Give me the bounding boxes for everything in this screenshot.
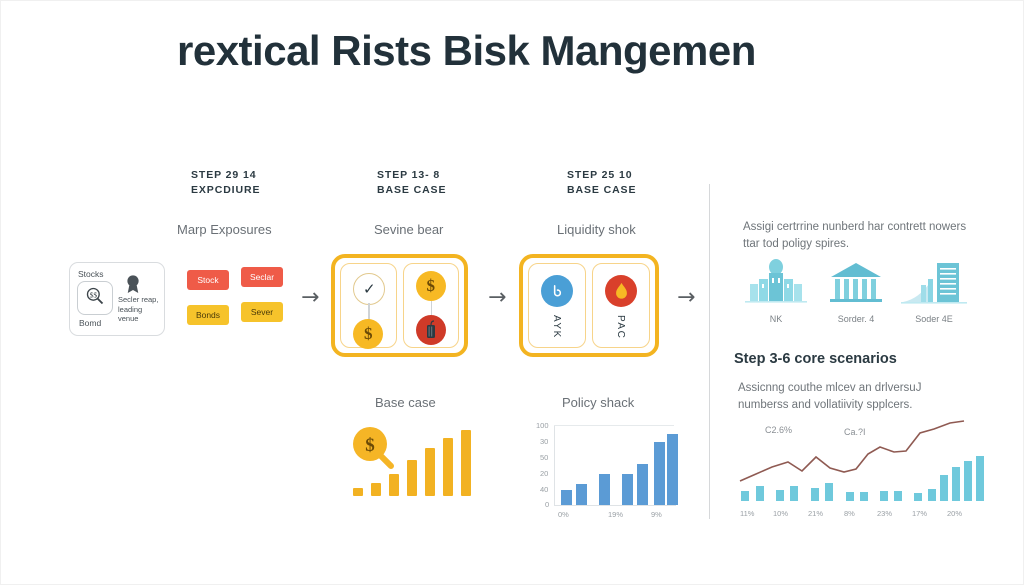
- scenario-pane-pac[interactable]: PAC: [592, 263, 650, 348]
- base-case-bar-7: [461, 430, 471, 496]
- base-case-magnifier-icon: $: [351, 426, 395, 475]
- base-case-bar-4: [407, 460, 417, 496]
- spiral-circle-icon: [541, 275, 573, 307]
- diagram-canvas: rextical Rists Bisk Mangemen STEP 29 14 …: [0, 0, 1024, 585]
- exposure-inner-box: $$: [77, 281, 113, 315]
- x-tick-0: 0%: [558, 510, 569, 519]
- exposure-label-stocks: Stocks: [78, 269, 104, 279]
- bar-5: [637, 464, 648, 505]
- step-header-3-line1: STEP 25 10: [567, 169, 632, 181]
- policy-shock-caption: Policy shack: [562, 395, 634, 410]
- building-item-2: Sorder. 4: [823, 259, 889, 324]
- chip-bonds[interactable]: Bonds: [187, 305, 229, 325]
- combo-bar-15: [964, 461, 972, 501]
- scenario-pane-shock[interactable]: $: [403, 263, 460, 348]
- base-case-caption: Base case: [375, 395, 436, 410]
- bar-6: [654, 442, 665, 505]
- combo-x-tick-4: 23%: [877, 509, 892, 518]
- combo-bar-2: [756, 486, 764, 501]
- right-heading: Step 3-6 core scenarios: [734, 351, 897, 367]
- stage-caption-3: Liquidity shok: [557, 222, 636, 237]
- scenario-pane-ayk[interactable]: AYK: [528, 263, 586, 348]
- check-circle-icon: ✓: [353, 273, 385, 305]
- combo-x-tick-1: 10%: [773, 509, 788, 518]
- exposure-label-sector: Secler reap, leading venue: [118, 295, 164, 324]
- scenario-label-ayk: AYK: [551, 315, 562, 339]
- combo-x-tick-6: 20%: [947, 509, 962, 518]
- step-header-3: STEP 25 10 BASE CASE: [567, 168, 636, 198]
- magnifier-dollar-icon: $$: [85, 286, 105, 311]
- building-label-3: Soder 4E: [899, 314, 969, 324]
- flow-arrow-1: →: [301, 287, 319, 309]
- chip-sever[interactable]: Sever: [241, 302, 283, 322]
- skyscraper-icon: [901, 292, 967, 309]
- chart-top-gridline: [554, 425, 674, 426]
- bar-4: [622, 474, 633, 505]
- bar-7: [667, 434, 678, 505]
- stage-caption-1: Marp Exposures: [177, 222, 272, 237]
- chip-stock-label: Stock: [197, 275, 218, 285]
- svg-text:$: $: [365, 435, 375, 456]
- scenario-pane-check[interactable]: ✓ $: [340, 263, 397, 348]
- combo-bar-12: [928, 489, 936, 501]
- y-tick-4: 40: [540, 485, 548, 494]
- step-header-1-line1: STEP 29 14: [191, 169, 256, 181]
- bar-2: [576, 484, 587, 505]
- exposure-label-bond: Bomd: [79, 318, 101, 328]
- chip-sever-label: Sever: [251, 307, 273, 317]
- dollar-coin-icon: $: [416, 271, 446, 301]
- flow-arrow-3: →: [677, 287, 695, 309]
- chip-stock[interactable]: Stock: [187, 270, 229, 290]
- svg-text:$$: $$: [90, 290, 98, 299]
- flow-arrow-2: →: [488, 287, 506, 309]
- combo-bar-5: [811, 488, 819, 501]
- stage-caption-2: Sevine bear: [374, 222, 443, 237]
- exposure-card[interactable]: Stocks $$ Bomd Secler reap, leading venu…: [69, 262, 165, 336]
- bar-3: [599, 474, 610, 505]
- bank-columns-icon: [825, 292, 887, 309]
- step-header-2: STEP 13- 8 BASE CASE: [377, 168, 446, 198]
- combo-x-tick-5: 17%: [912, 509, 927, 518]
- combo-bar-1: [741, 491, 749, 501]
- scenario-card-base[interactable]: ✓ $ $: [331, 254, 468, 357]
- chart-x-axis: [554, 505, 676, 506]
- dollar-glyph: $: [427, 276, 436, 296]
- combo-bar-8: [860, 492, 868, 501]
- y-tick-5: 0: [545, 500, 549, 509]
- base-case-bar-1: [353, 488, 363, 496]
- combo-x-tick-0: 11%: [740, 509, 754, 518]
- scenario-label-pac: PAC: [615, 315, 626, 339]
- chip-sector-label: Seclar: [250, 272, 274, 282]
- chip-bonds-label: Bonds: [196, 310, 220, 320]
- flame-circle-icon: [605, 275, 637, 307]
- page-title: rextical Rists Bisk Mangemen: [177, 27, 756, 75]
- step-header-1-line2: EXPCDIURE: [191, 183, 260, 198]
- combo-bar-14: [952, 467, 960, 501]
- combo-bar-6: [825, 483, 833, 501]
- right-paragraph-top: Assigi certrrine nunberd har contrett no…: [743, 219, 975, 253]
- step-header-2-line2: BASE CASE: [377, 183, 446, 198]
- scenario-card-liquidity[interactable]: AYK PAC: [519, 254, 659, 357]
- combo-bar-4: [790, 486, 798, 501]
- base-case-bar-5: [425, 448, 435, 496]
- combo-bar-13: [940, 475, 948, 501]
- combo-x-tick-3: 8%: [844, 509, 855, 518]
- combo-x-tick-2: 21%: [808, 509, 823, 518]
- dynamite-icon: [416, 315, 446, 345]
- chip-sector[interactable]: Seclar: [241, 267, 283, 287]
- base-case-bar-3: [389, 474, 399, 496]
- dollar-coin-icon: $: [353, 319, 383, 349]
- combo-bar-10: [894, 491, 902, 501]
- base-case-bar-6: [443, 438, 453, 496]
- building-label-1: NK: [743, 314, 809, 324]
- combo-bar-7: [846, 492, 854, 501]
- step-header-1: STEP 29 14 EXPCDIURE: [191, 168, 260, 198]
- step-header-3-line2: BASE CASE: [567, 183, 636, 198]
- base-case-bar-2: [371, 483, 381, 496]
- combo-bar-9: [880, 491, 888, 501]
- bar-1: [561, 490, 572, 505]
- y-tick-1: 30: [540, 437, 548, 446]
- x-tick-1: 19%: [608, 510, 623, 519]
- x-tick-2: 9%: [651, 510, 662, 519]
- y-tick-2: 50: [540, 453, 548, 462]
- building-item-1: NK: [743, 259, 809, 324]
- step-header-2-line1: STEP 13- 8: [377, 169, 440, 181]
- chart-y-axis: [554, 425, 555, 505]
- vertical-divider: [709, 184, 710, 519]
- check-glyph: ✓: [363, 280, 376, 298]
- city-hall-icon: [745, 292, 807, 309]
- combo-bar-11: [914, 493, 922, 501]
- combo-bar-16: [976, 456, 984, 501]
- dollar-glyph: $: [364, 324, 373, 344]
- y-tick-0: 100: [536, 421, 549, 430]
- combo-bar-3: [776, 490, 784, 501]
- right-paragraph-bottom: Assicnng couthe mlcev an drlversuJ numbe…: [738, 380, 970, 414]
- y-tick-3: 20: [540, 469, 548, 478]
- building-item-3: Soder 4E: [899, 259, 969, 324]
- building-label-2: Sorder. 4: [823, 314, 889, 324]
